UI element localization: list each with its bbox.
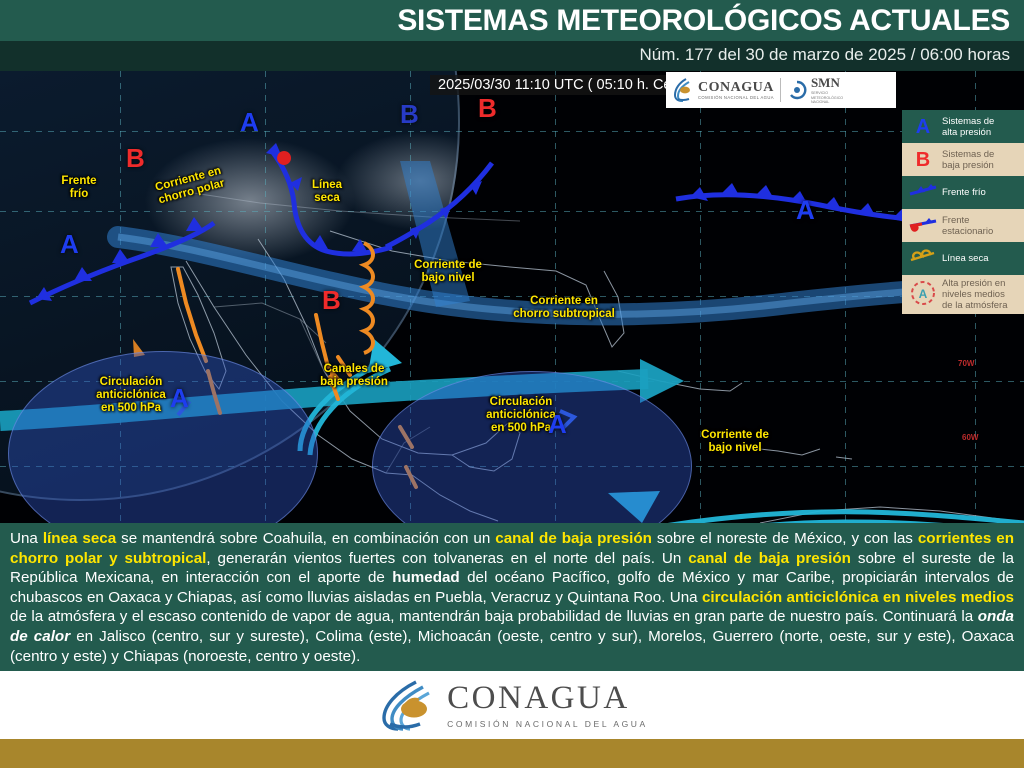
legend-label-baja-presion: Sistemas de baja presión	[940, 149, 1020, 171]
discussion-emphasis: humedad	[392, 569, 460, 586]
pressure-letter-A-pacifico-norte: A	[60, 229, 79, 260]
footer-brand: CONAGUA	[447, 682, 648, 715]
conagua-water-icon	[672, 77, 694, 103]
stationary-front-icon	[906, 216, 940, 235]
dry-line-icon	[906, 249, 940, 268]
cold-front-icon	[906, 183, 940, 202]
smn-logo: SMN SERVICIO METEOROLÓGICO NACIONAL	[787, 75, 843, 104]
legend-item-frente-frio[interactable]: Frente frío	[902, 176, 1024, 209]
weather-bulletin-page: SISTEMAS METEOROLÓGICOS ACTUALES Núm. 17…	[0, 0, 1024, 768]
grid-label-70w: 70W	[958, 359, 974, 368]
pressure-letter-B-azul-norte: B	[400, 99, 419, 130]
logo-divider	[780, 78, 781, 102]
cold-front-central	[266, 143, 392, 254]
footer-brand-tagline: COMISIÓN NACIONAL DEL AGUA	[447, 719, 648, 729]
discussion-emphasis: canal de baja presión	[688, 550, 851, 567]
conagua-footer-logo: CONAGUA COMISIÓN NACIONAL DEL AGUA	[376, 678, 648, 732]
polar-jet-band	[118, 237, 1024, 314]
legend-label-frente-estacionario: Frente estacionario	[940, 215, 1020, 237]
bulletin-number-date: Núm. 177 del 30 de marzo de 2025 / 06:00…	[640, 45, 1010, 65]
conagua-tagline: COMISIÓN NACIONAL DEL AGUA	[698, 95, 774, 100]
conagua-logo: CONAGUA COMISIÓN NACIONAL DEL AGUA	[672, 77, 774, 103]
pressure-letter-A-golfo: A	[548, 409, 567, 440]
grid-label-60w: 60W	[962, 433, 978, 442]
legend-item-frente-estacionario[interactable]: Frente estacionario	[902, 209, 1024, 242]
discussion-emphasis: circulación anticiclónica en niveles med…	[702, 589, 1014, 606]
mid-level-high-icon: A	[906, 279, 940, 310]
pressure-letter-B-mexico-este: B	[322, 285, 341, 316]
smn-tagline: SERVICIO METEOROLÓGICO NACIONAL	[811, 91, 843, 104]
legend-item-linea-seca[interactable]: Línea seca	[902, 242, 1024, 275]
conagua-wordmark: CONAGUA	[698, 81, 774, 95]
page-title: SISTEMAS METEOROLÓGICOS ACTUALES	[397, 4, 1010, 38]
legend-label-frente-frio: Frente frío	[940, 187, 1020, 198]
pressure-letter-B-noreste: B	[478, 93, 497, 124]
map-legend: A Sistemas de alta presión B Sistemas de…	[902, 110, 1024, 314]
legend-item-baja-presion[interactable]: B Sistemas de baja presión	[902, 143, 1024, 176]
map-logo-strip: CONAGUA COMISIÓN NACIONAL DEL AGUA SMN S…	[666, 72, 896, 108]
footer-logo-bar: CONAGUA COMISIÓN NACIONAL DEL AGUA	[0, 671, 1024, 739]
discussion-panel: Una línea seca se mantendrá sobre Coahui…	[0, 523, 1024, 671]
pressure-letter-A-atlantico: A	[796, 195, 815, 226]
discussion-emphasis: onda de calor	[10, 608, 1014, 645]
legend-item-alta-presion[interactable]: A Sistemas de alta presión	[902, 110, 1024, 143]
footer-gold-bar	[0, 739, 1024, 768]
discussion-emphasis: canal de baja presión	[495, 530, 652, 547]
letter-A-icon: A	[906, 117, 940, 137]
header-bar: SISTEMAS METEOROLÓGICOS ACTUALES	[0, 0, 1024, 41]
discussion-text: Una línea seca se mantendrá sobre Coahui…	[10, 529, 1014, 666]
legend-item-alta-niveles-medios[interactable]: A Alta presión en niveles medios de la a…	[902, 275, 1024, 314]
svg-text:A: A	[919, 287, 928, 301]
smn-wordmark: SMN	[811, 75, 843, 91]
legend-label-linea-seca: Línea seca	[940, 253, 1020, 264]
discussion-emphasis: línea seca	[43, 530, 116, 547]
pressure-letter-A-pacifico-sur: A	[170, 383, 189, 414]
pressure-letter-B-noroeste: B	[126, 143, 145, 174]
legend-label-alta-presion: Sistemas de alta presión	[940, 116, 1020, 138]
smn-swirl-icon	[787, 80, 807, 100]
header-subbar: Núm. 177 del 30 de marzo de 2025 / 06:00…	[0, 41, 1024, 71]
letter-B-icon: B	[906, 150, 940, 170]
satellite-map[interactable]: Frente frío Corriente en chorro polar Lí…	[0, 71, 1024, 523]
pressure-letter-A-eeuu: A	[240, 107, 259, 138]
conagua-water-icon-large	[376, 678, 438, 732]
legend-label-alta-niveles-medios: Alta presión en niveles medios de la atm…	[940, 278, 1020, 311]
